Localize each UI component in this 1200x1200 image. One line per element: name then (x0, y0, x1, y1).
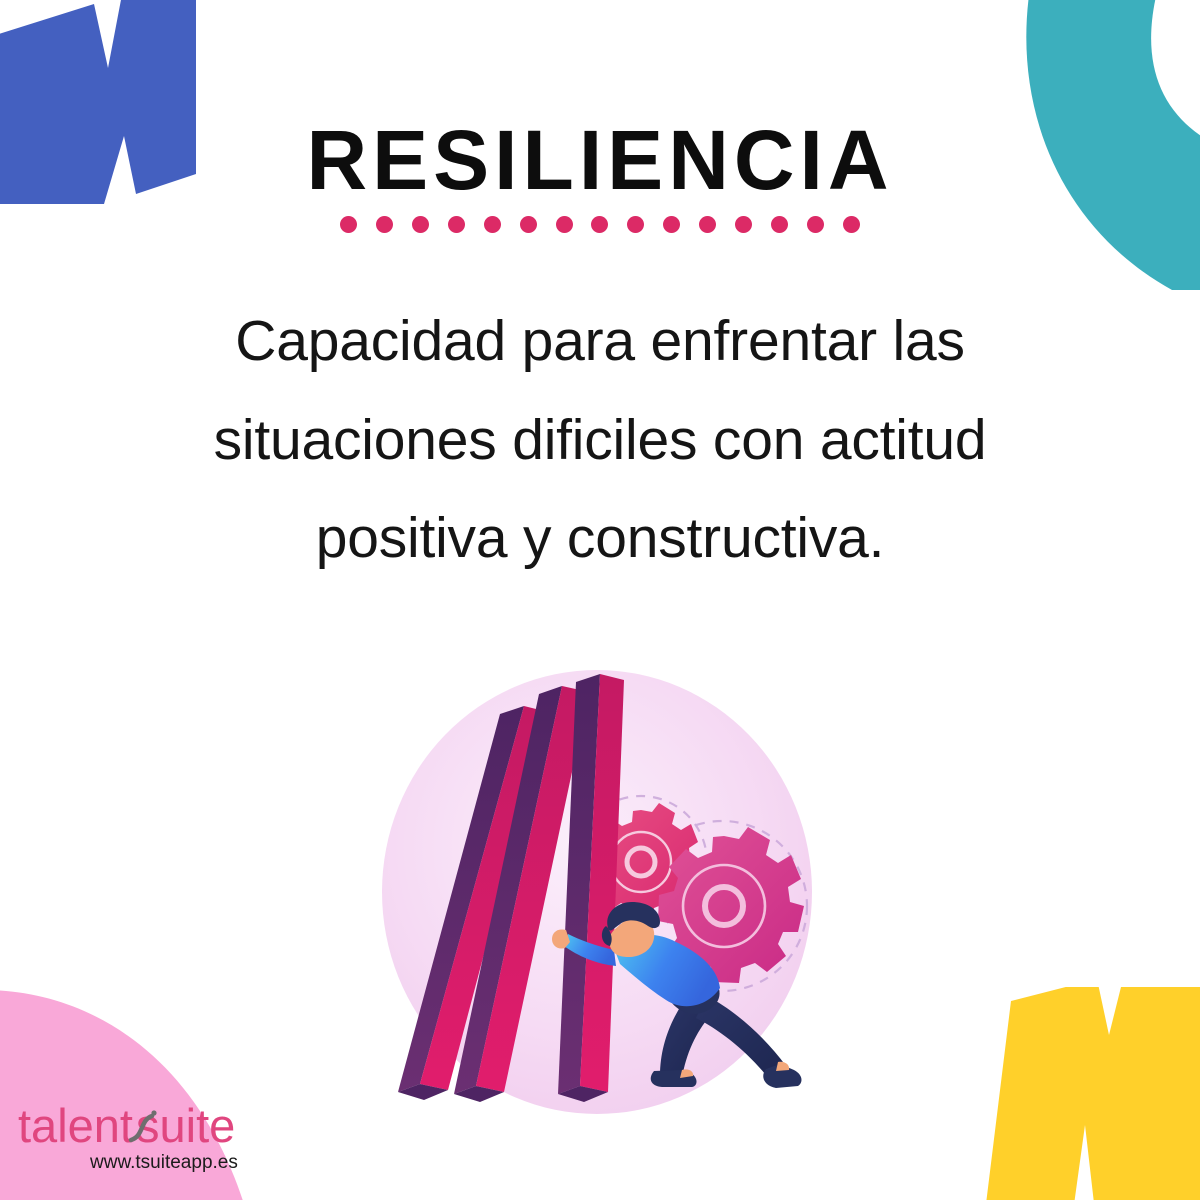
title-dot (735, 216, 752, 233)
logo-dot-icon (151, 1110, 156, 1115)
title-dot (627, 216, 644, 233)
description-line: situaciones dificiles con actitud (100, 391, 1100, 490)
title-dot (484, 216, 501, 233)
resilience-illustration (352, 634, 832, 1124)
title-dot (591, 216, 608, 233)
title-dot (340, 216, 357, 233)
logo-url[interactable]: www.tsuiteapp.es (90, 1152, 238, 1174)
page-title: RESILIENCIA (0, 118, 1200, 202)
description-text: Capacidad para enfrentar las situaciones… (100, 292, 1100, 588)
brand-logo[interactable]: talent suite www.tsuiteapp.es (18, 1102, 278, 1182)
title-dot (520, 216, 537, 233)
title-dot (843, 216, 860, 233)
talentsuite-wordmark: talent suite (18, 1102, 263, 1154)
title-dot-divider (340, 216, 860, 233)
title-dot (807, 216, 824, 233)
description-line: positiva y constructiva. (100, 489, 1100, 588)
title-dot (376, 216, 393, 233)
poster-canvas: RESILIENCIA Capacidad para enfrentar las… (0, 0, 1200, 1200)
title-dot (556, 216, 573, 233)
description-line: Capacidad para enfrentar las (100, 292, 1100, 391)
title-dot (448, 216, 465, 233)
svg-text:suite: suite (136, 1102, 235, 1152)
yellow-zigzag-shape (977, 987, 1200, 1200)
title-dot (771, 216, 788, 233)
title-dot (699, 216, 716, 233)
title-dot (663, 216, 680, 233)
title-dot (412, 216, 429, 233)
title-block: RESILIENCIA (0, 118, 1200, 233)
svg-text:talent: talent (18, 1102, 133, 1152)
